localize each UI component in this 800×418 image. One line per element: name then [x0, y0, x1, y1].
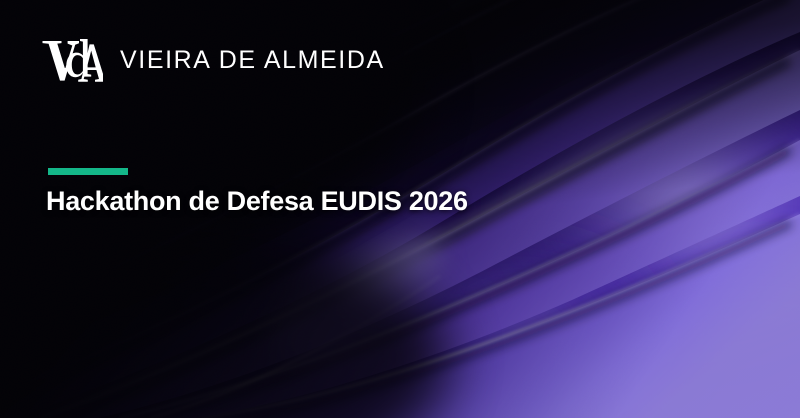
vda-wordmark: VIEIRA DE ALMEIDA: [120, 48, 385, 75]
accent-bar: [48, 168, 128, 175]
promo-banner: VIEIRA DE ALMEIDA Hackathon de Defesa EU…: [0, 0, 800, 418]
banner-content: VIEIRA DE ALMEIDA Hackathon de Defesa EU…: [0, 0, 800, 418]
vda-monogram-icon: [41, 36, 103, 86]
vda-logo-lockup: VIEIRA DE ALMEIDA: [41, 36, 385, 86]
page-title: Hackathon de Defesa EUDIS 2026: [46, 186, 468, 217]
